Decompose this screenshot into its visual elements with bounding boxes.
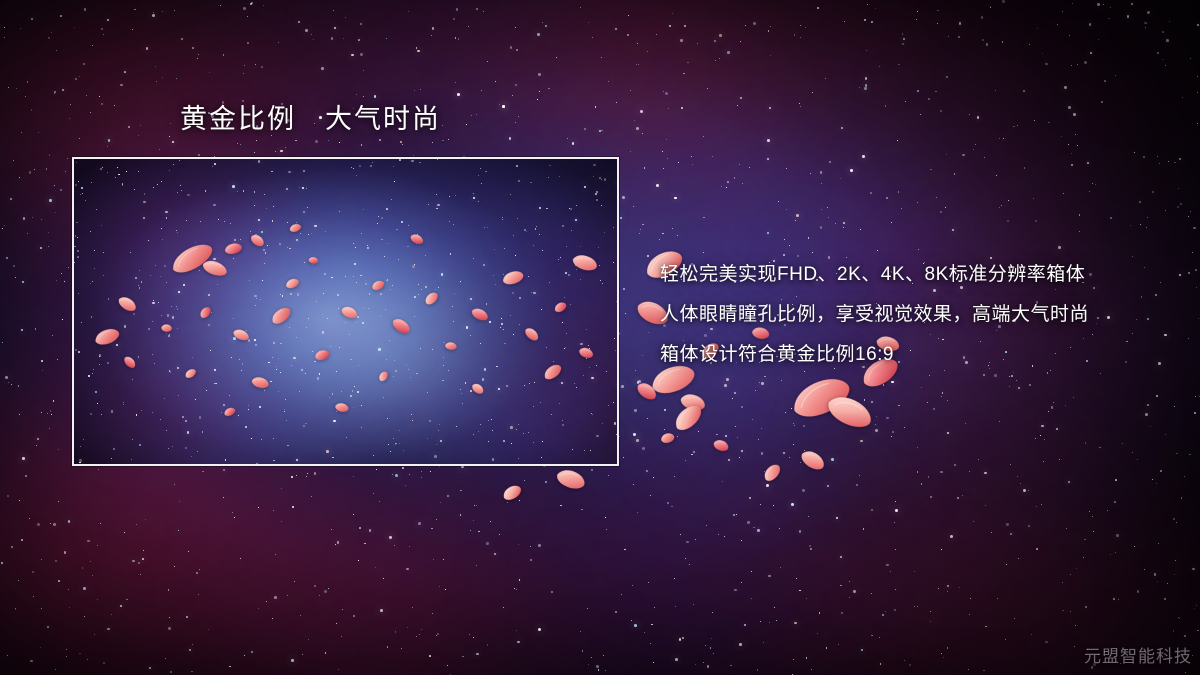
flower-petal — [221, 401, 235, 413]
flower-petal — [200, 257, 229, 280]
flower-petal — [421, 287, 439, 304]
flower-petal — [251, 372, 272, 388]
nebula-cloud-9 — [114, 359, 414, 464]
nebula-cloud-6 — [74, 289, 304, 464]
flower-petal — [470, 303, 491, 322]
flower-petal — [268, 304, 293, 327]
flower-petal — [390, 314, 413, 336]
description-text-block: 轻松完美实现FHD、2K、4K、8K标准分辨率箱体 人体眼睛瞳孔比例，享受视觉效… — [660, 255, 1089, 375]
nebula-cloud-1 — [204, 159, 504, 349]
flower-petal — [313, 346, 330, 359]
flower-petal — [473, 378, 489, 393]
nebula-cloud-3 — [494, 179, 617, 429]
flower-petal — [369, 275, 384, 288]
flower-petal — [570, 251, 600, 274]
flower-petal — [287, 218, 301, 229]
flower-petal — [579, 342, 597, 357]
slide-canvas: 黄金比例 大气时尚 轻松完美实现FHD、2K、4K、8K标准分辨率箱体 人体眼睛… — [0, 0, 1200, 675]
flower-petal — [551, 296, 567, 310]
flower-petal — [335, 397, 351, 409]
flower-petal — [373, 366, 386, 380]
flower-petal — [283, 273, 299, 286]
page-title: 黄金比例 大气时尚 — [180, 102, 441, 136]
flower-petal — [92, 325, 121, 347]
nebula-cloud-0 — [74, 159, 334, 359]
flower-petal — [445, 336, 458, 346]
flower-petal — [233, 324, 253, 340]
panel-starfield — [74, 159, 617, 464]
framed-image-panel[interactable] — [72, 157, 619, 466]
flower-petal — [125, 351, 141, 368]
watermark-label: 元盟智能科技 — [1084, 642, 1192, 667]
panel-nebula-image — [74, 159, 617, 464]
flower-petal — [116, 292, 139, 313]
flower-petal — [411, 228, 428, 243]
flower-petal — [340, 302, 360, 320]
flower-petal — [161, 318, 173, 328]
nebula-cloud-2 — [374, 159, 617, 359]
nebula-cloud-8 — [454, 309, 617, 464]
description-line-2: 人体眼睛瞳孔比例，享受视觉效果，高端大气时尚 — [660, 295, 1089, 335]
flower-petal — [309, 250, 320, 259]
nebula-cloud-7 — [334, 329, 617, 464]
description-line-1: 轻松完美实现FHD、2K、4K、8K标准分辨率箱体 — [660, 255, 1089, 295]
flower-petal — [251, 229, 269, 246]
flower-petal — [501, 268, 526, 286]
nebula-cloud-4 — [164, 219, 494, 464]
flower-petal — [167, 237, 218, 278]
description-line-3: 箱体设计符合黄金比例16:9 — [660, 335, 1089, 375]
flower-petal — [540, 360, 563, 381]
flower-petal — [223, 240, 243, 254]
flower-petal — [525, 323, 543, 341]
flower-petal — [181, 363, 195, 376]
nebula-cloud-5 — [274, 249, 534, 449]
flower-petal — [195, 302, 211, 318]
